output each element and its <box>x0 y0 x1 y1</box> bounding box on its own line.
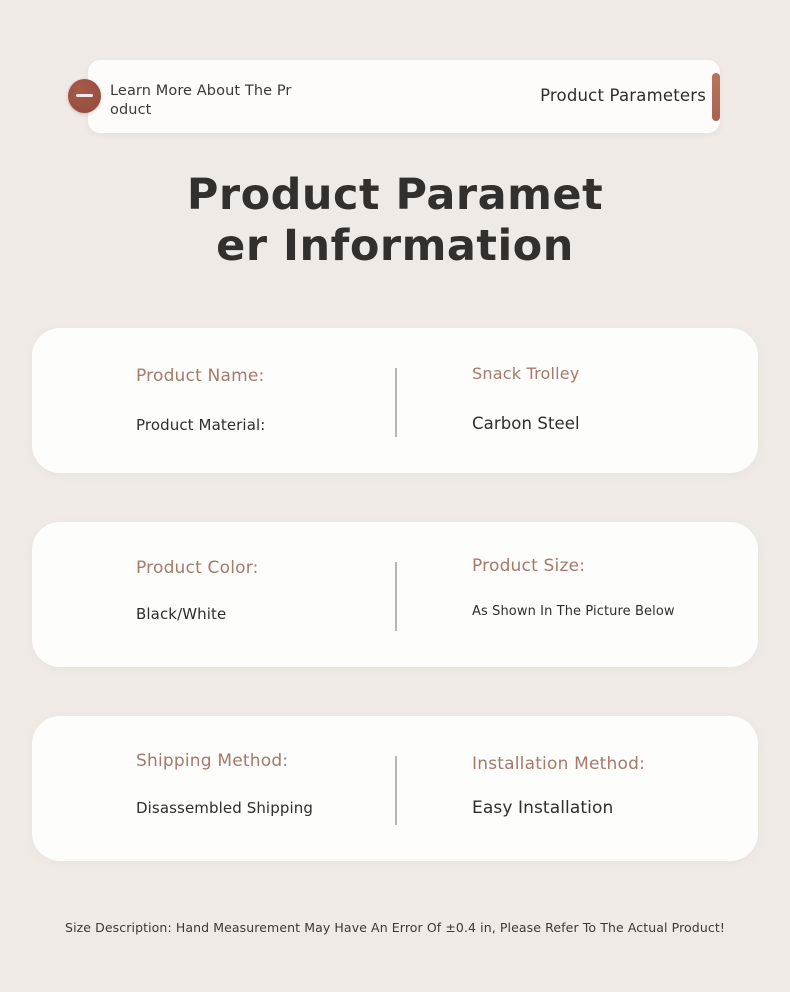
parameter-column-left: Product Name: Product Material: <box>136 328 386 473</box>
parameter-value: Product Material: <box>136 416 265 434</box>
parameter-value: As Shown In The Picture Below <box>472 604 675 619</box>
page-title-line-1: Product Paramet <box>0 170 790 221</box>
parameter-column-right: Installation Method: Easy Installation <box>472 716 742 861</box>
parameter-value: Black/White <box>136 605 226 623</box>
accordion-header[interactable]: Learn More About The Product Product Par… <box>0 0 790 150</box>
minus-circle-icon[interactable] <box>68 79 101 113</box>
parameter-column-left: Product Color: Black/White <box>136 522 386 667</box>
parameter-column-right: Product Size: As Shown In The Picture Be… <box>472 522 742 667</box>
parameter-label: Product Color: <box>136 558 259 578</box>
size-description-note: Size Description: Hand Measurement May H… <box>0 920 790 935</box>
accordion-title: Learn More About The Product <box>110 82 300 120</box>
column-divider <box>395 368 397 437</box>
column-divider <box>395 562 397 631</box>
parameter-card: Product Name: Product Material: Snack Tr… <box>32 328 758 473</box>
accordion-section-label: Product Parameters <box>540 86 706 105</box>
page-title-line-2: er Information <box>0 221 790 272</box>
parameter-label: Installation Method: <box>472 754 645 774</box>
parameter-value: Easy Installation <box>472 798 613 818</box>
parameter-label: Snack Trolley <box>472 364 580 383</box>
parameter-card: Product Color: Black/White Product Size:… <box>32 522 758 667</box>
parameter-card-list: Product Name: Product Material: Snack Tr… <box>32 328 758 910</box>
accent-bar <box>712 73 720 121</box>
page-title: Product Paramet er Information <box>0 170 790 272</box>
parameter-label: Product Size: <box>472 556 585 576</box>
parameter-label: Product Name: <box>136 366 264 386</box>
parameter-card: Shipping Method: Disassembled Shipping I… <box>32 716 758 861</box>
column-divider <box>395 756 397 825</box>
parameter-label: Shipping Method: <box>136 751 288 771</box>
parameter-value: Disassembled Shipping <box>136 799 313 817</box>
parameter-value: Carbon Steel <box>472 414 580 433</box>
minus-glyph <box>76 94 93 97</box>
parameter-column-left: Shipping Method: Disassembled Shipping <box>136 716 386 861</box>
parameter-column-right: Snack Trolley Carbon Steel <box>472 328 742 473</box>
